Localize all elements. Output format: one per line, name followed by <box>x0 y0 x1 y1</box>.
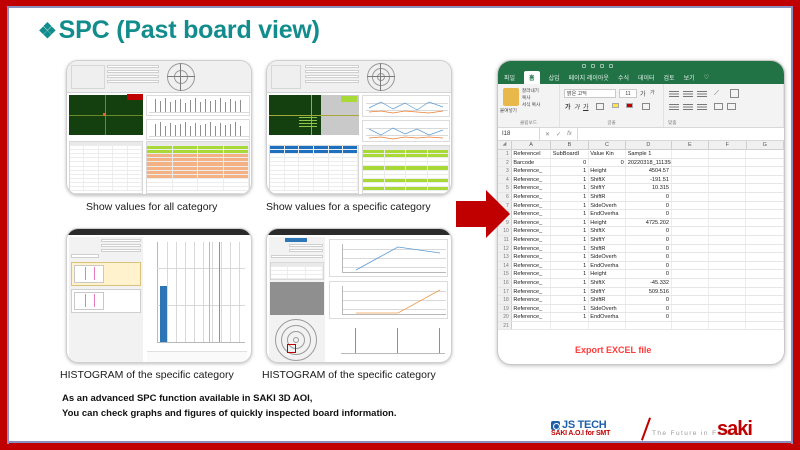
table-cell[interactable]: ShiftR <box>589 193 626 201</box>
table-cell[interactable]: 509.516 <box>626 288 671 296</box>
table-cell[interactable] <box>709 184 746 192</box>
control-field <box>271 255 323 258</box>
table-cell[interactable]: ShiftY <box>589 288 626 296</box>
table-cell[interactable]: Reference_ <box>512 305 551 313</box>
table-cell[interactable]: 0 <box>551 159 588 167</box>
table-row[interactable]: 2Barcode0020220318_111358_1 <box>498 159 784 168</box>
font-size-box[interactable]: 11 <box>619 89 637 98</box>
column-header-a[interactable]: A <box>512 141 551 149</box>
row-header[interactable]: 20 <box>498 313 512 321</box>
table-cell[interactable] <box>672 210 709 218</box>
align-right-icon[interactable] <box>697 103 707 110</box>
table-cell[interactable] <box>746 159 783 167</box>
chart-shiftx <box>146 119 250 140</box>
table-cell[interactable] <box>672 236 709 244</box>
cancel-icon[interactable]: ✕ <box>545 131 550 138</box>
table-cell[interactable]: -191.51 <box>626 176 671 184</box>
column-headers: ◢ A B C D E F G <box>498 141 784 150</box>
table-cell[interactable] <box>746 296 783 304</box>
table-cell[interactable]: 1 <box>551 253 588 261</box>
table-cell[interactable] <box>672 322 709 330</box>
thumbnail-card[interactable] <box>71 289 141 313</box>
table-cell[interactable] <box>709 313 746 321</box>
table-cell[interactable] <box>672 253 709 261</box>
values-table[interactable] <box>270 262 324 280</box>
table-cell[interactable]: EndOverha <box>589 262 626 270</box>
table-cell[interactable]: 1 <box>551 288 588 296</box>
control-field <box>101 244 141 247</box>
polar-axis-v <box>380 63 381 91</box>
table-cell[interactable] <box>746 184 783 192</box>
table-cell[interactable]: ShiftX <box>589 279 626 287</box>
underline-icon[interactable]: 가 <box>583 102 589 111</box>
decrease-indent-icon[interactable] <box>714 103 723 110</box>
table-cell[interactable]: 0 <box>626 193 671 201</box>
table-cell[interactable] <box>746 227 783 235</box>
table-cell[interactable]: 1 <box>551 270 588 278</box>
table-cell[interactable]: 1 <box>551 202 588 210</box>
table-cell[interactable]: 1 <box>551 219 588 227</box>
table-cell[interactable]: Reference_ <box>512 176 551 184</box>
borders-icon[interactable] <box>596 103 604 110</box>
alignment-group-label: 맞춤 <box>664 120 783 126</box>
increase-font-icon[interactable]: 가 <box>640 89 646 98</box>
table-cell[interactable] <box>709 288 746 296</box>
table-row[interactable]: 1ReferenceISubBoardIValue KinSample 1 <box>498 150 784 159</box>
table-cell[interactable] <box>709 270 746 278</box>
row-header[interactable]: 17 <box>498 288 512 296</box>
right-arrow <box>456 188 510 240</box>
table-cell[interactable]: ShiftR <box>589 296 626 304</box>
table-cell[interactable] <box>746 313 783 321</box>
bold-icon[interactable]: 가 <box>565 102 571 111</box>
table-cell[interactable] <box>746 210 783 218</box>
table-cell[interactable]: Reference_ <box>512 279 551 287</box>
window-title-bar <box>267 229 451 235</box>
table-cell[interactable]: Sample 1 <box>626 150 671 158</box>
table-cell[interactable]: Reference_ <box>512 288 551 296</box>
table-cell[interactable] <box>746 253 783 261</box>
polar-axis-h <box>167 76 195 77</box>
column-header-g[interactable]: G <box>747 141 784 149</box>
font-color-icon[interactable] <box>626 103 633 108</box>
row-header[interactable]: 15 <box>498 270 512 278</box>
table-row[interactable]: 6Reference_1ShiftR0 <box>498 193 784 202</box>
control-field <box>107 65 159 68</box>
table-cell[interactable]: Reference_ <box>512 270 551 278</box>
polar-marker <box>287 344 296 353</box>
table-cell[interactable] <box>672 270 709 278</box>
board-grid-h <box>69 115 143 116</box>
data-table-right[interactable] <box>146 141 250 194</box>
control-field <box>289 249 323 252</box>
page-title: ❖SPC (Past board view) <box>38 16 320 45</box>
table-row[interactable]: 14Reference_1EndOverha0 <box>498 262 784 271</box>
table-cell[interactable] <box>746 150 783 158</box>
table-cell[interactable] <box>709 210 746 218</box>
table-cell[interactable]: SideOverh <box>589 305 626 313</box>
table-cell[interactable]: 1 <box>551 296 588 304</box>
name-box[interactable]: I18 <box>498 128 540 140</box>
thumbnail-card-selected[interactable] <box>71 262 141 286</box>
table-cell[interactable]: SideOverh <box>589 202 626 210</box>
table-cell[interactable] <box>672 305 709 313</box>
tab-review[interactable]: 검토 <box>664 73 675 82</box>
control-field <box>101 249 141 252</box>
quick-access-toolbar[interactable] <box>498 61 784 71</box>
thumbnail-histogram-1[interactable] <box>66 228 252 363</box>
table-cell[interactable] <box>709 322 746 330</box>
ribbon-group-clipboard[interactable]: 잘라내기 복사 서식 복사 붙여넣기 클립보드 <box>498 84 560 127</box>
table-cell[interactable] <box>709 159 746 167</box>
table-cell[interactable] <box>709 150 746 158</box>
jstech-logo: JS TECH SAKI A.O.I for SMT <box>551 419 610 437</box>
table-cell[interactable] <box>672 176 709 184</box>
column-header-b[interactable]: B <box>551 141 588 149</box>
table-cell[interactable]: ShiftY <box>589 236 626 244</box>
table-cell[interactable] <box>672 202 709 210</box>
column-header-f[interactable]: F <box>709 141 746 149</box>
histogram-bar <box>160 286 167 342</box>
table-cell[interactable] <box>672 193 709 201</box>
table-cell[interactable]: Value Kin <box>589 150 626 158</box>
table-cell[interactable]: Height <box>589 219 626 227</box>
table-cell[interactable]: ShiftR <box>589 245 626 253</box>
chart-line-1-svg <box>363 96 451 118</box>
formula-bar[interactable]: I18 ✕ ✓ fx <box>498 128 784 141</box>
table-row[interactable]: 13Reference_1SideOverh0 <box>498 253 784 262</box>
customize-qat-icon[interactable] <box>609 64 613 68</box>
table-cell[interactable] <box>709 176 746 184</box>
table-cell[interactable]: Reference_ <box>512 245 551 253</box>
table-cell[interactable]: 0 <box>626 227 671 235</box>
table-cell[interactable] <box>512 322 551 330</box>
row-header[interactable]: 3 <box>498 167 512 175</box>
table-cell[interactable]: EndOverha <box>589 313 626 321</box>
table-cell[interactable]: 4725.202 <box>626 219 671 227</box>
table-cell[interactable] <box>746 167 783 175</box>
excel-window[interactable]: 파일 홈 삽입 페이지 레이아웃 수식 데이터 검토 보기 ♡ 잘라내기 복사 … <box>497 60 785 365</box>
table-cell[interactable]: 1 <box>551 210 588 218</box>
table-cell[interactable]: 0 <box>626 202 671 210</box>
table-cell[interactable]: Reference_ <box>512 193 551 201</box>
table-cell[interactable]: 1 <box>551 313 588 321</box>
column-header-e[interactable]: E <box>672 141 709 149</box>
board-badge <box>341 96 357 102</box>
control-field <box>289 244 323 247</box>
table-cell[interactable] <box>672 159 709 167</box>
decrease-font-icon[interactable]: 가 <box>650 89 655 96</box>
control-field <box>305 65 359 68</box>
saki-logo: saki <box>717 419 752 439</box>
copy-label[interactable]: 복사 <box>522 95 530 101</box>
spreadsheet-grid[interactable]: ◢ A B C D E F G 1ReferenceISubBoardIValu… <box>498 141 784 330</box>
table-cell[interactable]: 1 <box>551 279 588 287</box>
paste-label[interactable]: 붙여넣기 <box>500 108 517 114</box>
chart-line-1 <box>362 95 450 117</box>
table-cell[interactable] <box>709 253 746 261</box>
row-header[interactable]: 16 <box>498 279 512 287</box>
table-cell[interactable] <box>746 219 783 227</box>
row-header[interactable]: 21 <box>498 322 512 330</box>
table-row[interactable]: 8Reference_1EndOverha0 <box>498 210 784 219</box>
polar-axis-h <box>367 76 395 77</box>
format-painter-label[interactable]: 서식 복사 <box>522 102 540 108</box>
table-row[interactable]: 20Reference_1EndOverha0 <box>498 313 784 322</box>
table-row[interactable]: 15Reference_1Height0 <box>498 270 784 279</box>
table-cell[interactable]: 0 <box>626 262 671 270</box>
align-bottom-icon[interactable] <box>697 90 707 97</box>
table-row[interactable]: 5Reference_1ShiftY10.315 <box>498 184 784 193</box>
row-header[interactable]: 4 <box>498 176 512 184</box>
table-cell[interactable] <box>709 279 746 287</box>
formula-buttons[interactable]: ✕ ✓ fx <box>540 128 578 140</box>
table-row[interactable]: 7Reference_1SideOverh0 <box>498 202 784 211</box>
tab-home[interactable]: 홈 <box>524 71 540 84</box>
table-cell[interactable]: EndOverha <box>589 210 626 218</box>
table-cell[interactable]: 1 <box>551 305 588 313</box>
spreadsheet-rows[interactable]: 1ReferenceISubBoardIValue KinSample 12Ba… <box>498 150 784 330</box>
table-cell[interactable]: 1 <box>551 236 588 244</box>
table-cell[interactable] <box>709 305 746 313</box>
table-cell[interactable] <box>589 322 626 330</box>
table-cell[interactable]: Reference_ <box>512 202 551 210</box>
row-header[interactable]: 19 <box>498 305 512 313</box>
tab-page-layout[interactable]: 페이지 레이아웃 <box>569 73 609 82</box>
row-header[interactable]: 12 <box>498 245 512 253</box>
table-cell[interactable]: Reference_ <box>512 296 551 304</box>
jstech-mark-icon <box>551 421 560 430</box>
table-cell[interactable] <box>746 262 783 270</box>
table-cell[interactable]: 0 <box>626 210 671 218</box>
inner-border-bottom <box>7 441 793 443</box>
tab-file[interactable]: 파일 <box>504 73 515 82</box>
table-cell[interactable]: 10.315 <box>626 184 671 192</box>
tab-view[interactable]: 보기 <box>684 73 695 82</box>
image-preview[interactable] <box>270 282 324 315</box>
fill-color-icon[interactable] <box>612 103 619 108</box>
table-cell[interactable]: Height <box>589 270 626 278</box>
table-cell[interactable]: ShiftX <box>589 227 626 235</box>
row-header[interactable]: 13 <box>498 253 512 261</box>
table-cell[interactable]: 1 <box>551 245 588 253</box>
table-row[interactable]: 17Reference_1ShiftY509.516 <box>498 288 784 297</box>
table-row[interactable]: 9Reference_1Height4725.202 <box>498 219 784 228</box>
table-cell[interactable] <box>746 193 783 201</box>
control-field <box>305 75 359 78</box>
table-cell[interactable] <box>672 150 709 158</box>
table-cell[interactable]: 1 <box>551 184 588 192</box>
table-cell[interactable] <box>746 322 783 330</box>
italic-icon[interactable]: 가 <box>574 102 580 111</box>
table-cell[interactable] <box>672 262 709 270</box>
undo-icon[interactable] <box>591 64 595 68</box>
table-row[interactable]: 19Reference_1SideOverh0 <box>498 305 784 314</box>
paste-icon[interactable] <box>503 88 519 106</box>
table-cell[interactable] <box>672 313 709 321</box>
cell-style-icon[interactable] <box>642 103 650 110</box>
font-name-box[interactable]: 맑은 고딕 <box>564 89 616 98</box>
description-line-1: As an advanced SPC function available in… <box>62 392 397 407</box>
tab-insert[interactable]: 삽입 <box>549 73 560 82</box>
limit-line-usl <box>219 242 220 342</box>
table-cell[interactable] <box>709 262 746 270</box>
table-cell[interactable] <box>746 279 783 287</box>
table-cell[interactable] <box>746 288 783 296</box>
table-cell[interactable]: Reference_ <box>512 167 551 175</box>
select-all-corner[interactable]: ◢ <box>498 141 512 149</box>
ribbon-group-font[interactable]: 맑은 고딕 11 가 가 가 가 가 글꼴 <box>560 84 664 127</box>
table-cell[interactable]: 0 <box>626 236 671 244</box>
table-cell[interactable] <box>746 305 783 313</box>
caption-show-values-all-category: Show values for all category <box>86 201 217 213</box>
table-cell[interactable]: 1 <box>551 262 588 270</box>
table-cell[interactable] <box>746 245 783 253</box>
align-top-icon[interactable] <box>669 90 679 97</box>
column-header-d[interactable]: D <box>626 141 671 149</box>
table-cell[interactable] <box>709 245 746 253</box>
tell-me-icon[interactable]: ♡ <box>704 74 709 81</box>
align-middle-icon[interactable] <box>683 90 693 97</box>
table-cell[interactable] <box>672 184 709 192</box>
table-cell[interactable]: Reference_ <box>512 219 551 227</box>
row-header[interactable]: 2 <box>498 159 512 167</box>
histogram-chart[interactable] <box>147 238 249 350</box>
redo-icon[interactable] <box>600 64 604 68</box>
row-header[interactable]: 14 <box>498 262 512 270</box>
table-cell[interactable] <box>709 167 746 175</box>
table-cell[interactable] <box>672 279 709 287</box>
table-cell[interactable]: ShiftX <box>589 176 626 184</box>
orientation-icon[interactable]: ⟋ <box>714 90 719 98</box>
data-table-left[interactable] <box>269 145 359 194</box>
table-row[interactable]: 12Reference_1ShiftR0 <box>498 245 784 254</box>
table-cell[interactable] <box>709 219 746 227</box>
ribbon[interactable]: 잘라내기 복사 서식 복사 붙여넣기 클립보드 맑은 고딕 11 가 가 가 가… <box>498 84 784 128</box>
table-cell[interactable] <box>551 322 588 330</box>
table-row[interactable]: 16Reference_1ShiftX-45.332 <box>498 279 784 288</box>
table-cell[interactable]: 0 <box>626 296 671 304</box>
table-cell[interactable]: 1 <box>551 167 588 175</box>
table-cell[interactable]: Reference_ <box>512 184 551 192</box>
table-cell[interactable]: Reference_ <box>512 210 551 218</box>
table-cell[interactable] <box>746 236 783 244</box>
window-title-bar <box>67 229 251 235</box>
table-cell[interactable] <box>709 202 746 210</box>
row-header[interactable]: 18 <box>498 296 512 304</box>
table-cell[interactable]: Reference_ <box>512 227 551 235</box>
polar-plot-inner <box>174 70 188 84</box>
table-cell[interactable] <box>709 193 746 201</box>
thumbnail-show-values-specific-category[interactable] <box>266 60 452 195</box>
save-icon[interactable] <box>582 64 586 68</box>
polar-axis-v <box>180 63 181 91</box>
table-cell[interactable]: Reference_ <box>512 313 551 321</box>
wrap-text-icon[interactable] <box>730 89 739 98</box>
table-cell[interactable]: Reference_ <box>512 236 551 244</box>
table-cell[interactable] <box>672 167 709 175</box>
cut-label[interactable]: 잘라내기 <box>522 88 539 94</box>
table-cell[interactable] <box>672 219 709 227</box>
table-cell[interactable]: 20220318_111358_1 <box>626 159 671 167</box>
table-cell[interactable] <box>709 296 746 304</box>
table-row[interactable]: 4Reference_1ShiftX-191.51 <box>498 176 784 185</box>
table-cell[interactable] <box>672 227 709 235</box>
border-left <box>0 0 7 450</box>
table-cell[interactable]: Barcode <box>512 159 551 167</box>
table-cell[interactable]: 1 <box>551 176 588 184</box>
table-row[interactable]: 21 <box>498 322 784 331</box>
diamond-bullet-icon: ❖ <box>38 20 57 43</box>
row-header[interactable]: 1 <box>498 150 512 158</box>
table-cell[interactable]: ReferenceI <box>512 150 551 158</box>
ribbon-tabs[interactable]: 파일 홈 삽입 페이지 레이아웃 수식 데이터 검토 보기 ♡ <box>498 71 784 84</box>
description-text: As an advanced SPC function available in… <box>62 392 397 421</box>
data-table-right[interactable] <box>362 145 450 194</box>
table-cell[interactable]: SubBoardI <box>551 150 588 158</box>
table-cell[interactable]: SideOverh <box>589 253 626 261</box>
insert-function-icon[interactable]: fx <box>567 131 572 137</box>
board-view[interactable] <box>69 95 143 135</box>
table-cell[interactable]: 1 <box>551 193 588 201</box>
table-cell[interactable]: 0 <box>626 305 671 313</box>
table-cell[interactable]: 0 <box>626 313 671 321</box>
table-cell[interactable] <box>709 236 746 244</box>
caption-show-values-specific-category: Show values for a specific category <box>266 201 431 213</box>
control-panel-left <box>71 65 105 89</box>
table-row[interactable]: 18Reference_1ShiftR0 <box>498 296 784 305</box>
enter-icon[interactable]: ✓ <box>556 131 561 138</box>
table-cell[interactable]: 0 <box>626 270 671 278</box>
table-cell[interactable]: Height <box>589 167 626 175</box>
align-center-icon[interactable] <box>683 103 693 110</box>
ribbon-group-alignment[interactable]: ⟋ 맞춤 <box>664 84 784 127</box>
tab-formulas[interactable]: 수식 <box>618 73 629 82</box>
table-cell[interactable] <box>672 245 709 253</box>
table-row[interactable]: 11Reference_1ShiftY0 <box>498 236 784 245</box>
table-cell[interactable]: 0 <box>626 253 671 261</box>
table-cell[interactable]: 0 <box>589 159 626 167</box>
thumbnail-show-values-all-category[interactable] <box>66 60 252 195</box>
tab-data[interactable]: 데이터 <box>638 73 655 82</box>
column-header-c[interactable]: C <box>589 141 626 149</box>
table-cell[interactable]: 1 <box>551 227 588 235</box>
table-cell[interactable] <box>709 227 746 235</box>
trend-chart-spikes <box>329 323 448 361</box>
table-cell[interactable]: 0 <box>626 245 671 253</box>
table-cell[interactable]: 4504.57 <box>626 167 671 175</box>
table-cell[interactable]: ShiftY <box>589 184 626 192</box>
align-left-icon[interactable] <box>669 103 679 110</box>
table-cell[interactable] <box>746 176 783 184</box>
table-row[interactable]: 10Reference_1ShiftX0 <box>498 227 784 236</box>
table-cell[interactable]: -45.332 <box>626 279 671 287</box>
table-cell[interactable] <box>746 270 783 278</box>
control-field <box>107 80 159 83</box>
table-cell[interactable] <box>672 288 709 296</box>
thumbnail-histogram-2[interactable] <box>266 228 452 363</box>
trend-line-height <box>330 240 449 278</box>
table-cell[interactable] <box>746 202 783 210</box>
table-cell[interactable]: Reference_ <box>512 253 551 261</box>
table-cell[interactable] <box>672 296 709 304</box>
data-table-left[interactable] <box>69 141 143 194</box>
mini-chart <box>74 265 104 283</box>
increase-indent-icon[interactable] <box>727 103 736 110</box>
table-row[interactable]: 3Reference_1Height4504.57 <box>498 167 784 176</box>
table-cell[interactable]: Reference_ <box>512 262 551 270</box>
table-cell[interactable] <box>626 322 671 330</box>
